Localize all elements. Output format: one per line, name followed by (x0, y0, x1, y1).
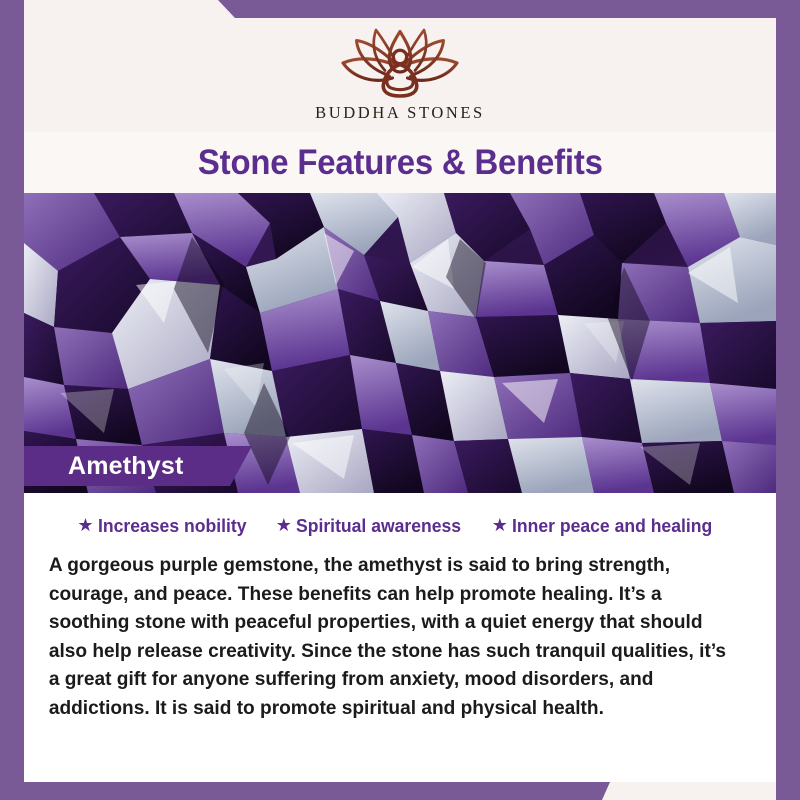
benefit-label: Spiritual awareness (296, 515, 461, 537)
frame-band-top (210, 0, 800, 18)
benefit-item: ★ Increases nobility (77, 515, 253, 537)
product-info-card: BUDDHA STONES Stone Features & Benefits (0, 0, 800, 800)
title-band: Stone Features & Benefits (24, 132, 776, 193)
benefit-item: ★ Inner peace and healing (492, 515, 723, 537)
benefits-list: ★ Increases nobility ★ Spiritual awarene… (38, 515, 762, 537)
hero-image-container: Amethyst (24, 193, 776, 493)
lotus-meditation-figure-icon (325, 24, 475, 102)
description-text: A gorgeous purple gemstone, the amethyst… (38, 551, 751, 722)
brand-header: BUDDHA STONES (24, 18, 776, 132)
benefit-item: ★ Spiritual awareness (276, 515, 470, 537)
frame-band-right (776, 0, 800, 800)
page-title: Stone Features & Benefits (198, 143, 603, 183)
frame-band-bottom (0, 782, 610, 800)
benefit-label: Increases nobility (98, 515, 246, 537)
stone-name-label: Amethyst (68, 452, 184, 481)
frame-band-left (0, 0, 24, 800)
brand-name: BUDDHA STONES (315, 103, 485, 123)
star-icon: ★ (77, 516, 93, 534)
content-area: ★ Increases nobility ★ Spiritual awarene… (24, 493, 776, 782)
star-icon: ★ (492, 516, 508, 534)
stone-nameplate: Amethyst (24, 446, 252, 486)
star-icon: ★ (276, 516, 292, 534)
benefit-label: Inner peace and healing (512, 515, 712, 537)
